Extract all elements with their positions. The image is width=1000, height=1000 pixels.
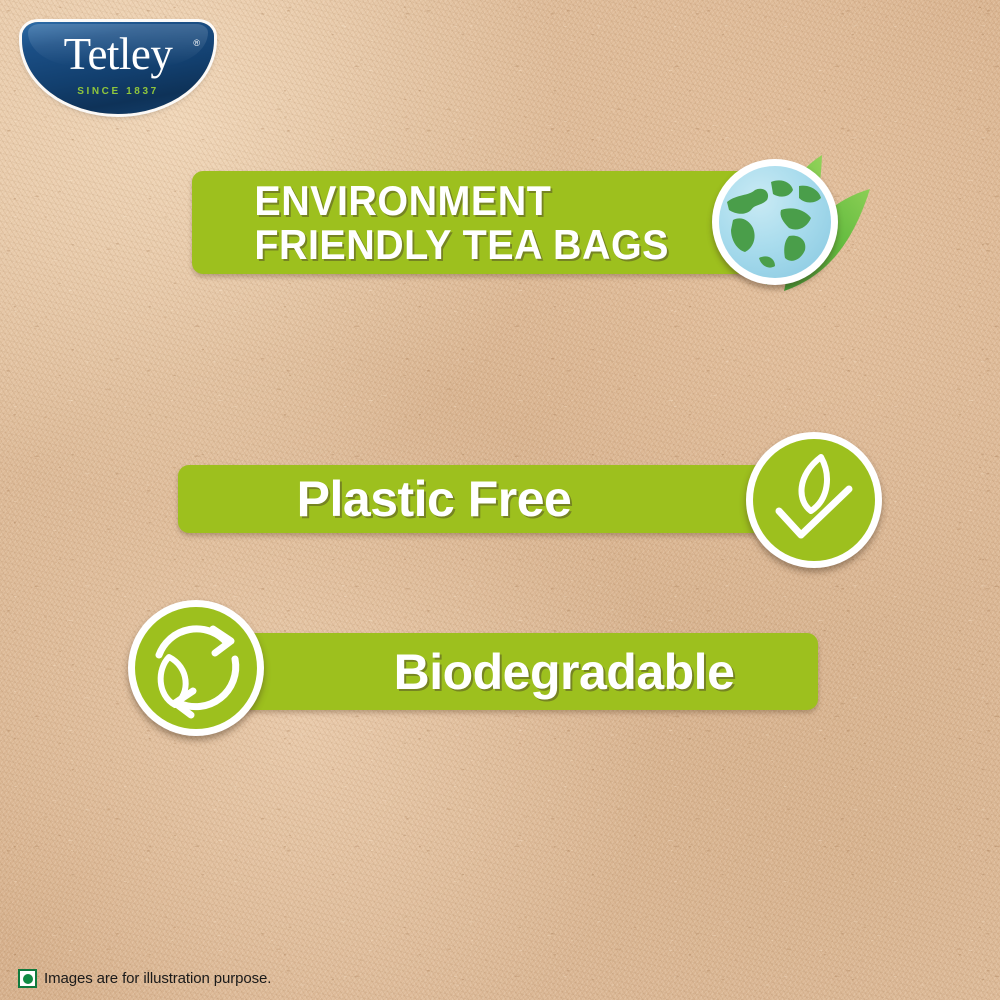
recycle-leaf-glyph — [135, 607, 257, 729]
vegetarian-mark-dot — [23, 974, 33, 984]
footer-disclaimer: Images are for illustration purpose. — [18, 969, 271, 988]
banner-biodegradable: Biodegradable — [192, 633, 818, 710]
banner-environment-friendly-tea-bags: ENVIRONMENT FRIENDLY TEA BAGS — [192, 171, 784, 274]
banner-label-plastic-free: Plastic Free — [178, 465, 802, 533]
recycle-leaf-icon — [128, 600, 264, 736]
globe-ocean — [719, 166, 831, 278]
globe-outer-ring — [712, 159, 838, 285]
logo-tagline: SINCE 1837 — [22, 86, 214, 97]
banner-label-environment: ENVIRONMENT FRIENDLY TEA BAGS — [210, 171, 766, 274]
product-feature-image: Tetley ® SINCE 1837 ENVIRONMENT FRIENDLY… — [0, 0, 1000, 1000]
leaf-check-glyph — [753, 439, 875, 561]
recycle-leaf-icon-disc — [135, 607, 257, 729]
registered-trademark-icon: ® — [193, 38, 200, 48]
vegetarian-mark-icon — [18, 969, 37, 988]
leaf-check-icon-disc — [753, 439, 875, 561]
banner-label-biodegradable: Biodegradable — [192, 633, 818, 710]
tetley-logo: Tetley ® SINCE 1837 — [22, 22, 214, 114]
illustration-note: Images are for illustration purpose. — [44, 970, 271, 987]
globe-continents — [719, 166, 831, 278]
logo-wordmark: Tetley — [22, 32, 214, 77]
leaf-check-icon — [746, 432, 882, 568]
globe-leaves-icon — [712, 159, 838, 285]
logo-shield-shape: Tetley ® SINCE 1837 — [22, 22, 214, 114]
banner-plastic-free: Plastic Free — [178, 465, 802, 533]
